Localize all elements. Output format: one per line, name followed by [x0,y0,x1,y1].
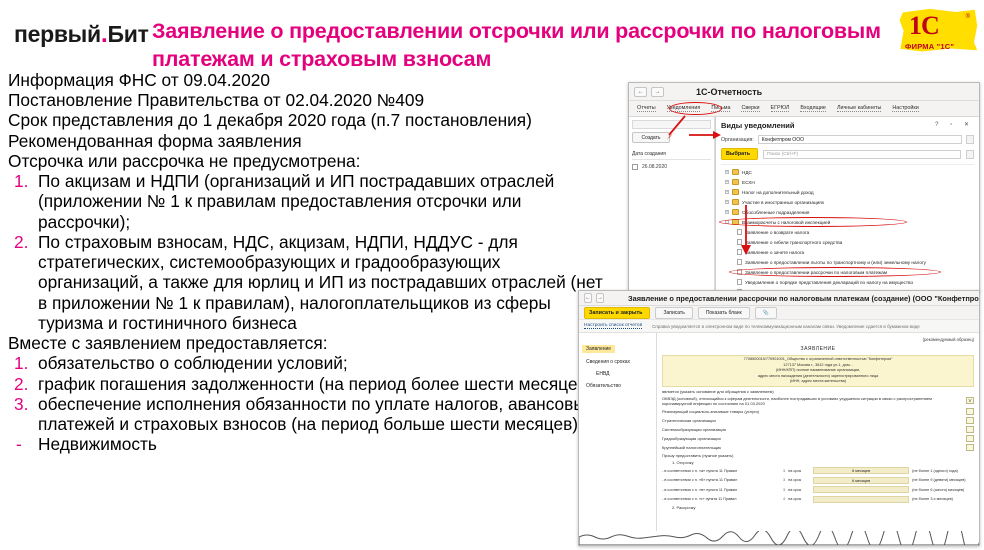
paragraph: Отсрочка или рассрочка не предусмотрена: [8,151,608,171]
tab-lichnye-kabinety[interactable]: Личные кабинеты [837,105,881,112]
attachments-list: 1. обязательство о соблюдении условий; 2… [8,353,608,434]
tree-node-label: Налог на дополнительный доход [742,190,814,195]
forward-arrow-icon[interactable]: → [596,293,604,303]
logo-text-second: Бит [108,21,149,47]
term-row[interactable]: - в соответствии с п. «в» пункта 11 Прав… [662,486,974,493]
list-item-number: 2. [14,232,28,252]
nav-item-wrap: Заявление [582,337,653,359]
tree-node[interactable]: + ЕСХН [721,177,974,187]
row-checkbox[interactable] [632,164,638,170]
list-item: 1. обязательство о соблюдении условий; [8,353,608,373]
tree-node[interactable]: Заявление о гибели транспортного средств… [721,237,974,247]
document-canvas: (рекомендуемый образец) ЗАЯВЛЕНИЕ 770850… [657,333,979,545]
checkbox-label: Реализующий социально-значимые товары (у… [662,409,962,414]
settings-link[interactable]: Настроить список отчетов [584,323,642,329]
term-row[interactable]: - в соответствии с п. «б» пункта 11 Прав… [662,477,974,484]
onec-registered-icon: ® [966,14,970,20]
dialog-window-buttons[interactable]: ? ▫ ✕ [935,121,974,128]
organization-row: Организация: Конфетпром ООО [721,135,974,144]
nav-item-envd[interactable]: ЕНВД [582,371,653,377]
collapse-icon[interactable]: - [725,220,729,224]
list-item-number: 1. [14,353,28,373]
tree-node-label: Заявление о зачете налога [745,250,804,255]
tree-node-label: Участие в иностранных организациях [742,200,824,205]
list-item-text: график погашения задолженности (на перио… [38,374,597,394]
checkbox-label: Крупнейший налогоплательщик [662,445,962,450]
tree-node[interactable]: + Обособленные подразделения [721,207,974,217]
notification-types-tree: + НДС + ЕСХН + Налог на дополнительный д… [721,164,974,292]
organization-label: Организация: [721,137,754,143]
subheading: Вместе с заявлением предоставляется: [8,333,608,353]
back-arrow-icon[interactable]: ← [584,293,592,303]
intro-text: является (указать основание для обращени… [662,389,974,394]
tree-node-label: Взаиморасчеты с налоговой инспекцией [742,220,830,225]
list-item-text: обеспечение исполнения обязанности по уп… [38,394,594,434]
term-note: (не более 9 (девяти) месяцев) [912,478,974,482]
slide-body: Информация ФНС от 09.04.2020 Постановлен… [8,70,608,454]
window-title: 1С-Отчетность [696,87,762,97]
tab-egrul[interactable]: ЕГРЮЛ [771,105,790,112]
expand-icon[interactable]: + [725,210,729,214]
expand-icon[interactable]: + [725,200,729,204]
page-title: Заявление о предоставлении отсрочки или … [152,18,897,73]
folder-icon [732,199,739,205]
term-footnote: 3 [783,478,785,482]
organization-details-band[interactable]: 7708500015/770901001_Общество с ограниче… [662,355,974,387]
tree-node[interactable]: + НДС [721,167,974,177]
security-types-list: - Недвижимость [8,434,608,454]
attachment-icon[interactable]: 📎 [755,307,777,319]
tree-node[interactable]: + Участие в иностранных организациях [721,197,974,207]
create-button[interactable]: Создать [632,132,670,143]
tree-node-label: Заявление о гибели транспортного средств… [745,240,842,245]
search-input[interactable] [632,120,711,129]
organization-input[interactable]: Конфетпром ООО [758,135,962,144]
nav-item-zayavlenie[interactable]: Заявление [582,345,615,353]
dialog-search-input[interactable]: Поиск (Ctrl+F) [763,150,961,159]
save-button[interactable]: Записать [655,307,692,319]
notification-types-dialog: Виды уведомлений ? ▫ ✕ Организация: Конф… [715,117,979,291]
term-footnote: 3 [783,488,785,492]
tab-bar: Отчеты Уведомления Письма Сверки ЕГРЮЛ В… [629,101,979,117]
document-heading: ЗАЯВЛЕНИЕ [662,346,974,352]
form-section-nav: Заявление Сведения о сроках ЕНВД Обязате… [579,333,657,545]
nav-item-obyazatelstvo[interactable]: Обязательство [582,383,653,389]
choose-button[interactable]: Выбрать [721,148,758,160]
tab-sverki[interactable]: Сверки [741,105,759,112]
row-date: 26.08.2020 [642,164,667,170]
form-toolbar: Записать и закрыть Записать Показать бла… [579,306,979,320]
paragraph: Срок представления до 1 декабря 2020 год… [8,110,608,130]
list-item-number: 1. [14,171,28,191]
term-rule: - в соответствии с п. «г» пункта 11 Прав… [662,497,780,501]
list-item: - Недвижимость [8,434,608,454]
chevron-down-icon[interactable] [966,135,974,144]
form-hint-row: Настроить список отчетов Справка уведомл… [579,320,979,333]
onec-logo: 1С ® ФИРМА "1С" [896,6,980,54]
term-row[interactable]: - в соответствии с п. «а» пункта 11 Прав… [662,467,974,474]
checkbox-input[interactable] [966,417,974,424]
paragraph: Постановление Правительства от 02.04.202… [8,90,608,110]
org-line: (ИНН, адрес места жительства) [665,379,971,385]
list-item: 3. обеспечение исполнения обязанности по… [8,394,608,434]
document-icon [737,259,742,265]
tree-node-label: ЕСХН [742,180,755,185]
tree-node-settlements[interactable]: - Взаиморасчеты с налоговой инспекцией [721,217,974,227]
folder-icon [732,209,739,215]
list-item-text: Недвижимость [38,434,157,454]
help-icon[interactable] [966,150,974,159]
checkbox-label: Стратегическая организация [662,418,962,423]
column-header-date: Дата создания [632,151,711,160]
forward-arrow-icon[interactable]: → [651,87,664,97]
checkbox-row[interactable]: Стратегическая организация [662,417,974,424]
term-srok-label: на срок [788,497,810,501]
term-note: (не более 3-х месяцев) [912,497,974,501]
tab-otchety[interactable]: Отчеты [637,105,656,112]
exclusions-list: 1. По акцизам и НДПИ (организаций и ИП п… [8,171,608,333]
checkbox-label: Градообразующая организация [662,436,962,441]
request-option: 1. Отсрочку [662,460,974,465]
torn-edge-icon [579,531,980,545]
onec-logo-subtitle: ФИРМА "1С" [905,42,954,51]
document-icon [737,249,742,255]
list-item-number: 3. [14,394,28,414]
checkbox-input[interactable] [966,426,974,433]
term-value-input[interactable] [813,496,909,503]
term-note: (не более 6 (шести) месяцев) [912,488,974,492]
tree-node[interactable]: + Налог на дополнительный доход [721,187,974,197]
checkbox-input[interactable] [966,444,974,451]
tree-node-label: Заявление о предоставлении рассрочки по … [745,270,887,275]
table-row[interactable]: 26.08.2020 [632,164,711,170]
dialog-toolbar: Выбрать Поиск (Ctrl+F) [721,148,974,160]
term-srok-label: на срок [788,488,810,492]
window-title: Заявление о предоставлении рассрочки по … [628,294,980,303]
company-logo: первый.Бит [14,20,149,49]
checkbox-input[interactable]: V [966,397,974,404]
notifications-list-pane: Создать Дата создания 26.08.2020 [629,117,715,291]
term-note: (не более 1 (одного) года) [912,469,974,473]
expand-icon[interactable]: + [725,180,729,184]
list-item-text: обязательство о соблюдении условий; [38,353,348,373]
tree-node[interactable]: Заявление о зачете налога [721,247,974,257]
screenshot-application-form-window: ← → Заявление о предоставлении рассрочки… [578,290,980,546]
term-footnote: 3 [783,469,785,473]
logo-text-first: первый [14,21,101,47]
checkbox-label: ОКВЭД (основной), относящийся к сферам д… [662,396,962,406]
term-value-input[interactable]: 6 месяцев [813,467,909,474]
tab-vhodyashchie[interactable]: Входящие [800,105,826,112]
document-icon [737,229,742,235]
tree-node[interactable]: Заявление о возврате налога [721,227,974,237]
checkbox-row[interactable]: Градообразующая организация [662,435,974,442]
expand-icon[interactable]: + [725,170,729,174]
nav-item-svedeniya-o-srokah[interactable]: Сведения о сроках [582,359,653,365]
term-srok-label: на срок [788,469,810,473]
tree-node-label: Обособленные подразделения [742,210,809,215]
paragraph: Информация ФНС от 09.04.2020 [8,70,608,90]
show-form-button[interactable]: Показать бланк [698,307,750,319]
list-item: 2. По страховым взносам, НДС, акцизам, Н… [8,232,608,333]
tab-nastroyki[interactable]: Настройки [892,105,918,112]
tab-uvedomleniya[interactable]: Уведомления [667,105,701,112]
list-item-text: По страховым взносам, НДС, акцизам, НДПИ… [38,232,603,333]
expand-icon[interactable]: + [725,190,729,194]
window-body: Создать Дата создания 26.08.2020 Виды ув… [629,117,979,291]
term-rule: - в соответствии с п. «б» пункта 11 Прав… [662,478,780,482]
tree-node-label: НДС [742,170,752,175]
list-item-text: По акцизам и НДПИ (организаций и ИП пост… [38,171,554,231]
tree-node[interactable]: Заявление о предоставлении льготы по тра… [721,257,974,267]
list-item-number: 2. [14,374,28,394]
torn-edge-decoration [579,531,979,545]
checkbox-row[interactable]: Системообразующая организация [662,426,974,433]
checkbox-row[interactable]: ОКВЭД (основной), относящийся к сферам д… [662,396,974,406]
term-value-input[interactable]: 6 месяцев [813,477,909,484]
term-rule: - в соответствии с п. «в» пункта 11 Прав… [662,488,780,492]
back-arrow-icon[interactable]: ← [634,87,647,97]
term-footnote: 4 [783,497,785,501]
form-sample-tag: (рекомендуемый образец) [662,337,974,342]
window-titlebar: ← → Заявление о предоставлении рассрочки… [579,291,979,306]
document-icon [737,269,742,275]
term-row[interactable]: - в соответствии с п. «г» пункта 11 Прав… [662,496,974,503]
save-and-close-button[interactable]: Записать и закрыть [584,307,650,319]
tree-node-label: Заявление о возврате налога [745,230,809,235]
screenshot-1c-reporting-window: ← → 1С-Отчетность Отчеты Уведомления Пис… [628,82,980,292]
tree-node-label: Уведомление о порядке представления декл… [745,280,913,285]
folder-icon [732,179,739,185]
term-value-input[interactable] [813,486,909,493]
tab-pisma[interactable]: Письма [711,105,730,112]
checkbox-row[interactable]: Крупнейший налогоплательщик [662,444,974,451]
folder-icon [732,189,739,195]
checkbox-input[interactable] [966,435,974,442]
logo-dot: . [101,20,108,48]
request-label: Прошу предоставить (нужное указать) [662,453,974,458]
checkbox-input[interactable] [966,408,974,415]
list-item: 2. график погашения задолженности (на пе… [8,374,608,394]
checkbox-label: Системообразующая организация [662,427,962,432]
onec-logo-mark: 1С [909,11,939,41]
document-icon [737,279,742,285]
paragraph: Рекомендованная форма заявления [8,131,608,151]
term-srok-label: на срок [788,478,810,482]
hint-text: Справка уведомляется в электронном виде … [652,324,920,329]
tree-node[interactable]: Уведомление о порядке представления декл… [721,277,974,287]
form-body: Заявление Сведения о сроках ЕНВД Обязате… [579,333,979,545]
folder-icon [732,169,739,175]
tree-node-label: Заявление о предоставлении льготы по тра… [745,260,926,265]
folder-icon [732,219,739,225]
document-icon [737,239,742,245]
list-item-bullet: - [16,434,22,454]
term-rule: - в соответствии с п. «а» пункта 11 Прав… [662,469,780,473]
checkbox-row[interactable]: Реализующий социально-значимые товары (у… [662,408,974,415]
list-item: 1. По акцизам и НДПИ (организаций и ИП п… [8,171,608,232]
request-option-2: 2. Рассрочку [662,505,974,510]
window-titlebar: ← → 1С-Отчетность [629,83,979,101]
tree-node-rassrochka[interactable]: Заявление о предоставлении рассрочки по … [721,267,974,277]
